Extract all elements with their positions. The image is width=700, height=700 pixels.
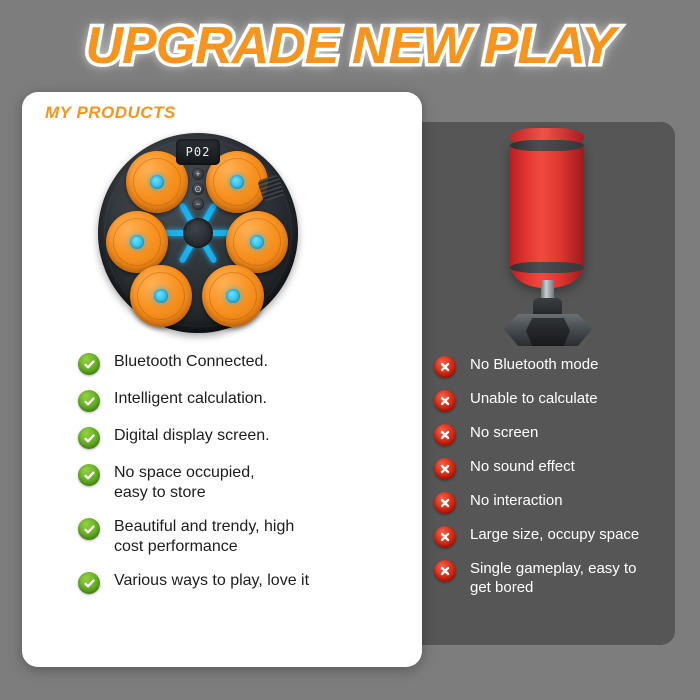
list-item-label: No interaction [470, 491, 563, 510]
list-item-label: Single gameplay, easy to get bored [470, 559, 637, 597]
check-circle-icon [78, 390, 100, 412]
bag-band-bottom [510, 262, 584, 273]
target-pad[interactable] [226, 211, 288, 273]
machine-hub [183, 218, 213, 248]
list-item: Single gameplay, easy to get bored [434, 559, 684, 597]
x-circle-icon [434, 526, 456, 548]
list-item-label: No Bluetooth mode [470, 355, 598, 374]
list-item: No screen [434, 423, 684, 446]
x-circle-icon [434, 424, 456, 446]
list-item: Digital display screen. [78, 426, 398, 449]
x-circle-icon [434, 492, 456, 514]
features-list: Bluetooth Connected. Intelligent calcula… [78, 352, 398, 608]
check-circle-icon [78, 464, 100, 486]
list-item-label: Various ways to play, love it [114, 571, 309, 591]
page-title: UPGRADE NEW PLAY [0, 16, 700, 76]
check-circle-icon [78, 572, 100, 594]
x-circle-icon [434, 458, 456, 480]
list-item: Beautiful and trendy, high cost performa… [78, 517, 398, 557]
x-circle-icon [434, 560, 456, 582]
list-item: No sound effect [434, 457, 684, 480]
list-item-label: No sound effect [470, 457, 575, 476]
list-item-label: Bluetooth Connected. [114, 352, 268, 372]
device-button-group[interactable]: + ⊙ − [192, 168, 204, 210]
x-circle-icon [434, 390, 456, 412]
bag-band-top [510, 140, 584, 151]
plus-button[interactable]: + [192, 168, 204, 180]
list-item-label: Beautiful and trendy, high cost performa… [114, 517, 294, 557]
list-item: Various ways to play, love it [78, 571, 398, 594]
target-pad[interactable] [130, 265, 192, 327]
drawbacks-list: No Bluetooth mode Unable to calculate No… [434, 355, 684, 608]
list-item-label: Unable to calculate [470, 389, 598, 408]
list-item: Large size, occupy space [434, 525, 684, 548]
list-item: No Bluetooth mode [434, 355, 684, 378]
list-item-label: No space occupied, easy to store [114, 463, 255, 503]
list-item-label: Intelligent calculation. [114, 389, 267, 409]
check-circle-icon [78, 353, 100, 375]
list-item-label: No screen [470, 423, 538, 442]
list-item: Bluetooth Connected. [78, 352, 398, 375]
target-pad[interactable] [106, 211, 168, 273]
card-title: MY PRODUCTS [45, 103, 176, 123]
list-item-label: Large size, occupy space [470, 525, 639, 544]
list-item-label: Digital display screen. [114, 426, 270, 446]
list-item: Unable to calculate [434, 389, 684, 412]
list-item: No space occupied, easy to store [78, 463, 398, 503]
x-circle-icon [434, 356, 456, 378]
check-circle-icon [78, 427, 100, 449]
list-item: Intelligent calculation. [78, 389, 398, 412]
check-circle-icon [78, 518, 100, 540]
target-pad[interactable] [202, 265, 264, 327]
device-display: P02 [176, 139, 220, 165]
list-item: No interaction [434, 491, 684, 514]
mode-button[interactable]: ⊙ [192, 183, 204, 195]
minus-button[interactable]: − [192, 198, 204, 210]
punching-bag-illustration [490, 128, 610, 343]
bag-base-inner [526, 318, 570, 346]
boxing-machine-illustration: P02 + ⊙ − [98, 133, 298, 333]
